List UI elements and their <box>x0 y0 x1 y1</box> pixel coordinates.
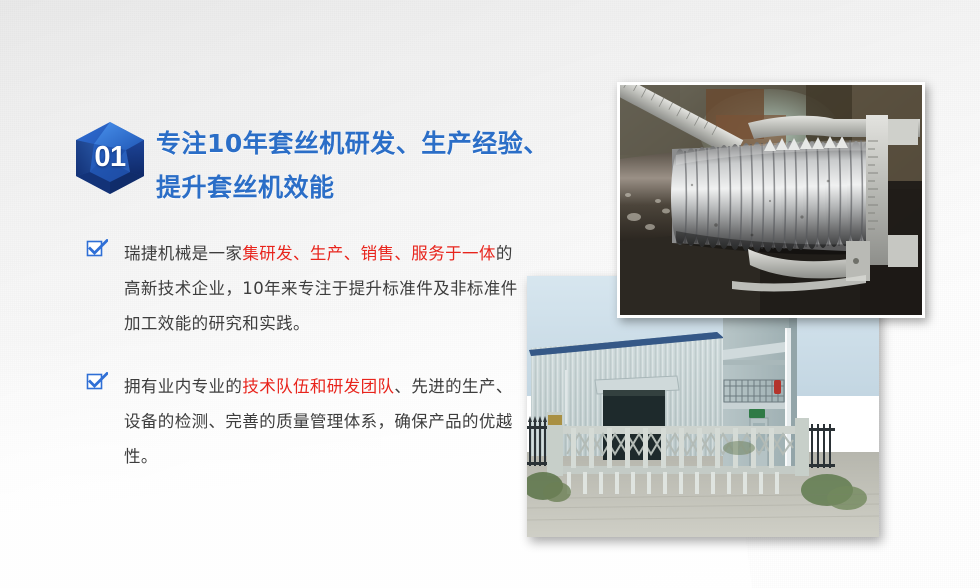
list-item: 拥有业内专业的技术队伍和研发团队、先进的生产、设备的检测、完善的质量管理体系，确… <box>86 369 526 474</box>
page-title: 专注10年套丝机研发、生产经验、 提升套丝机效能 <box>156 118 549 210</box>
headline-row: 01 专注10年套丝机研发、生产经验、 提升套丝机效能 <box>74 118 549 210</box>
threaded-rod-caliper-photo <box>617 82 925 318</box>
content-column: 01 专注10年套丝机研发、生产经验、 提升套丝机效能 瑞捷机械是一家集研发、生… <box>0 0 560 588</box>
checkbox-checked-icon <box>86 239 108 259</box>
segment-emphasis: 集研发、生产、销售、服务于一体 <box>242 244 496 263</box>
checkbox-checked-icon <box>86 372 108 392</box>
headline-line-1: 专注10年套丝机研发、生产经验、 <box>156 122 549 166</box>
promo-banner: 01 专注10年套丝机研发、生产经验、 提升套丝机效能 瑞捷机械是一家集研发、生… <box>0 0 980 588</box>
step-number-badge: 01 <box>74 120 146 196</box>
list-item-text: 瑞捷机械是一家集研发、生产、销售、服务于一体的高新技术企业，10年来专注于提升标… <box>124 244 518 333</box>
feature-list: 瑞捷机械是一家集研发、生产、销售、服务于一体的高新技术企业，10年来专注于提升标… <box>86 236 526 502</box>
badge-number: 01 <box>74 141 146 174</box>
list-item: 瑞捷机械是一家集研发、生产、销售、服务于一体的高新技术企业，10年来专注于提升标… <box>86 236 526 341</box>
headline-line-2: 提升套丝机效能 <box>156 166 549 210</box>
segment-plain: 瑞捷机械是一家 <box>124 244 242 263</box>
list-item-text: 拥有业内专业的技术队伍和研发团队、先进的生产、设备的检测、完善的质量管理体系，确… <box>124 377 513 466</box>
threaded-rod-illustration <box>620 85 922 315</box>
segment-plain: 拥有业内专业的 <box>124 377 242 396</box>
segment-emphasis: 技术队伍和研发团队 <box>242 377 394 396</box>
